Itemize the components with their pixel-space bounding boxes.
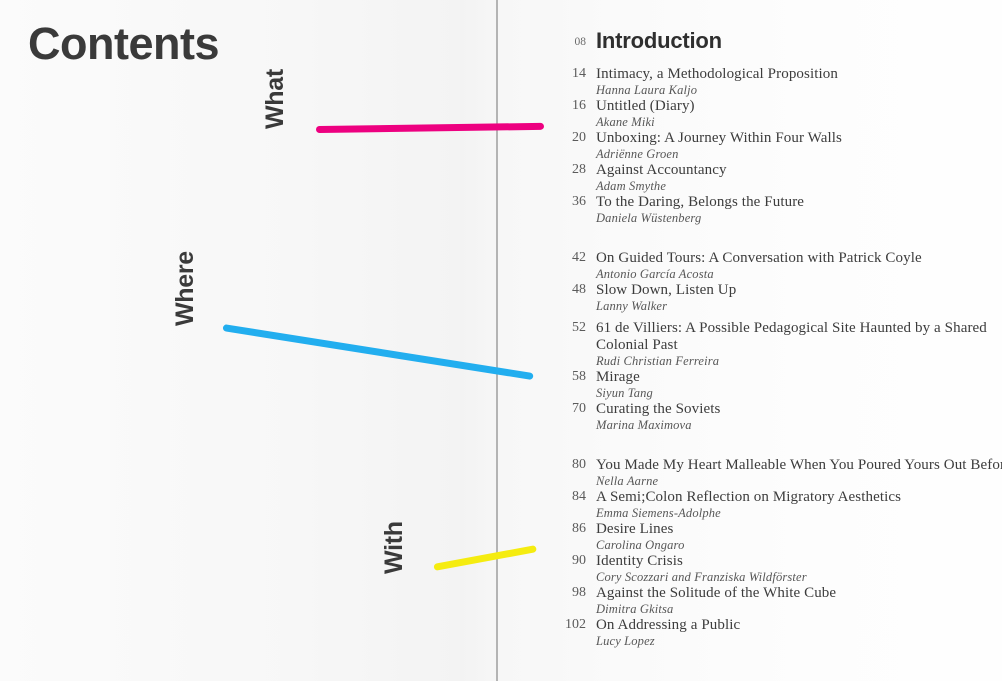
toc-entry[interactable]: 84 A Semi;Colon Reflection on Migratory … <box>560 489 1002 521</box>
toc-entry-title: Mirage <box>596 369 1002 386</box>
toc-entry[interactable]: 14 Intimacy, a Methodological Propositio… <box>560 66 1002 98</box>
toc-entry[interactable]: 70 Curating the Soviets Marina Maximova <box>560 401 1002 433</box>
toc-entry-author: Hanna Laura Kaljo <box>596 83 1002 98</box>
toc-entry[interactable]: 48 Slow Down, Listen Up Lanny Walker <box>560 282 1002 314</box>
toc-entry-page: 84 <box>560 489 586 505</box>
toc-entry[interactable]: 58 Mirage Siyun Tang <box>560 369 1002 401</box>
toc-entry-page: 20 <box>560 130 586 146</box>
toc-entry-title: Intimacy, a Methodological Proposition <box>596 66 1002 83</box>
toc-entry-page: 16 <box>560 98 586 114</box>
toc-group-gap <box>560 433 1002 457</box>
toc-entry-page: 86 <box>560 521 586 537</box>
toc-entry-author: Emma Siemens-Adolphe <box>596 506 1002 521</box>
toc-entry-title: A Semi;Colon Reflection on Migratory Aes… <box>596 489 1002 506</box>
toc-entry-page: 28 <box>560 162 586 178</box>
toc-entry-title: Against the Solitude of the White Cube <box>596 585 1002 602</box>
toc-entry[interactable]: 102 On Addressing a Public Lucy Lopez <box>560 617 1002 649</box>
toc-entry-page: 52 <box>560 320 586 336</box>
toc-entry-author: Carolina Ongaro <box>596 538 1002 553</box>
section-label-with: With <box>380 521 409 574</box>
toc-entry-page: 90 <box>560 553 586 569</box>
toc-entry-page: 58 <box>560 369 586 385</box>
toc-entry-author: Adam Smythe <box>596 179 1002 194</box>
toc-entry-title: Identity Crisis <box>596 553 1002 570</box>
toc-entry-page: 70 <box>560 401 586 417</box>
toc-entry-title: Curating the Soviets <box>596 401 1002 418</box>
toc-entry-author: Siyun Tang <box>596 386 1002 401</box>
toc-entry-author: Cory Scozzari and Franziska Wildförster <box>596 570 1002 585</box>
toc-entry-title: Introduction <box>596 28 1002 54</box>
toc-entry[interactable]: 86 Desire Lines Carolina Ongaro <box>560 521 1002 553</box>
toc-entry-page: 102 <box>560 617 586 633</box>
toc-entry[interactable]: 42 On Guided Tours: A Conversation with … <box>560 250 1002 282</box>
toc-entry[interactable]: 20 Unboxing: A Journey Within Four Walls… <box>560 130 1002 162</box>
toc-entry-title: On Addressing a Public <box>596 617 1002 634</box>
toc-entry[interactable]: 28 Against Accountancy Adam Smythe <box>560 162 1002 194</box>
section-rule-where <box>222 324 533 380</box>
toc-entry-title: 61 de Villiers: A Possible Pedagogical S… <box>596 320 996 354</box>
section-rule-what <box>316 123 544 133</box>
toc-group-introduction: 08 Introduction <box>560 28 1002 66</box>
toc-entry-author: Dimitra Gkitsa <box>596 602 1002 617</box>
toc-entry-page: 42 <box>560 250 586 266</box>
toc-entry[interactable]: 16 Untitled (Diary) Akane Miki <box>560 98 1002 130</box>
toc-entry[interactable]: 90 Identity Crisis Cory Scozzari and Fra… <box>560 553 1002 585</box>
toc-entry-author: Marina Maximova <box>596 418 1002 433</box>
toc-entry-title: You Made My Heart Malleable When You Pou… <box>596 457 1002 474</box>
toc-entry-page: 48 <box>560 282 586 298</box>
toc-entry-title: Unboxing: A Journey Within Four Walls <box>596 130 1002 147</box>
toc-entry-author: Daniela Wüstenberg <box>596 211 1002 226</box>
toc-entry-page: 36 <box>560 194 586 210</box>
section-label-what: What <box>261 69 290 129</box>
toc-entry-author: Akane Miki <box>596 115 1002 130</box>
toc-entry[interactable]: 52 61 de Villiers: A Possible Pedagogica… <box>560 314 1002 369</box>
toc-entry-title: Against Accountancy <box>596 162 1002 179</box>
section-label-where: Where <box>171 251 200 326</box>
toc-entry-title: Desire Lines <box>596 521 1002 538</box>
toc-entry[interactable]: 36 To the Daring, Belongs the Future Dan… <box>560 194 1002 226</box>
toc-entry-title: Untitled (Diary) <box>596 98 1002 115</box>
toc-group-with: 80 You Made My Heart Malleable When You … <box>560 457 1002 649</box>
toc-entry-author: Lanny Walker <box>596 299 1002 314</box>
toc-entry-author: Rudi Christian Ferreira <box>596 354 1002 369</box>
table-of-contents: 08 Introduction 14 Intimacy, a Methodolo… <box>560 28 1002 649</box>
toc-entry[interactable]: 98 Against the Solitude of the White Cub… <box>560 585 1002 617</box>
toc-entry-title: On Guided Tours: A Conversation with Pat… <box>596 250 1002 267</box>
toc-entry-page: 80 <box>560 457 586 473</box>
toc-group-gap <box>560 226 1002 250</box>
toc-entry-author: Nella Aarne <box>596 474 1002 489</box>
section-rule-with <box>433 545 537 571</box>
toc-entry-author: Adriënne Groen <box>596 147 1002 162</box>
toc-entry-author: Lucy Lopez <box>596 634 1002 649</box>
toc-entry-page: 98 <box>560 585 586 601</box>
toc-entry[interactable]: 80 You Made My Heart Malleable When You … <box>560 457 1002 489</box>
toc-entry-title: To the Daring, Belongs the Future <box>596 194 1002 211</box>
toc-entry-page: 14 <box>560 66 586 82</box>
toc-group-what: 14 Intimacy, a Methodological Propositio… <box>560 66 1002 226</box>
toc-entry-author: Antonio García Acosta <box>596 267 1002 282</box>
page-title: Contents <box>28 18 219 70</box>
toc-entry-title: Slow Down, Listen Up <box>596 282 1002 299</box>
page-spine-divider <box>496 0 498 681</box>
toc-entry-page: 08 <box>560 36 586 48</box>
toc-entry[interactable]: 08 Introduction <box>560 28 1002 66</box>
toc-group-where: 42 On Guided Tours: A Conversation with … <box>560 250 1002 433</box>
contents-page: Contents What Where With 08 Introduction… <box>0 0 1002 681</box>
